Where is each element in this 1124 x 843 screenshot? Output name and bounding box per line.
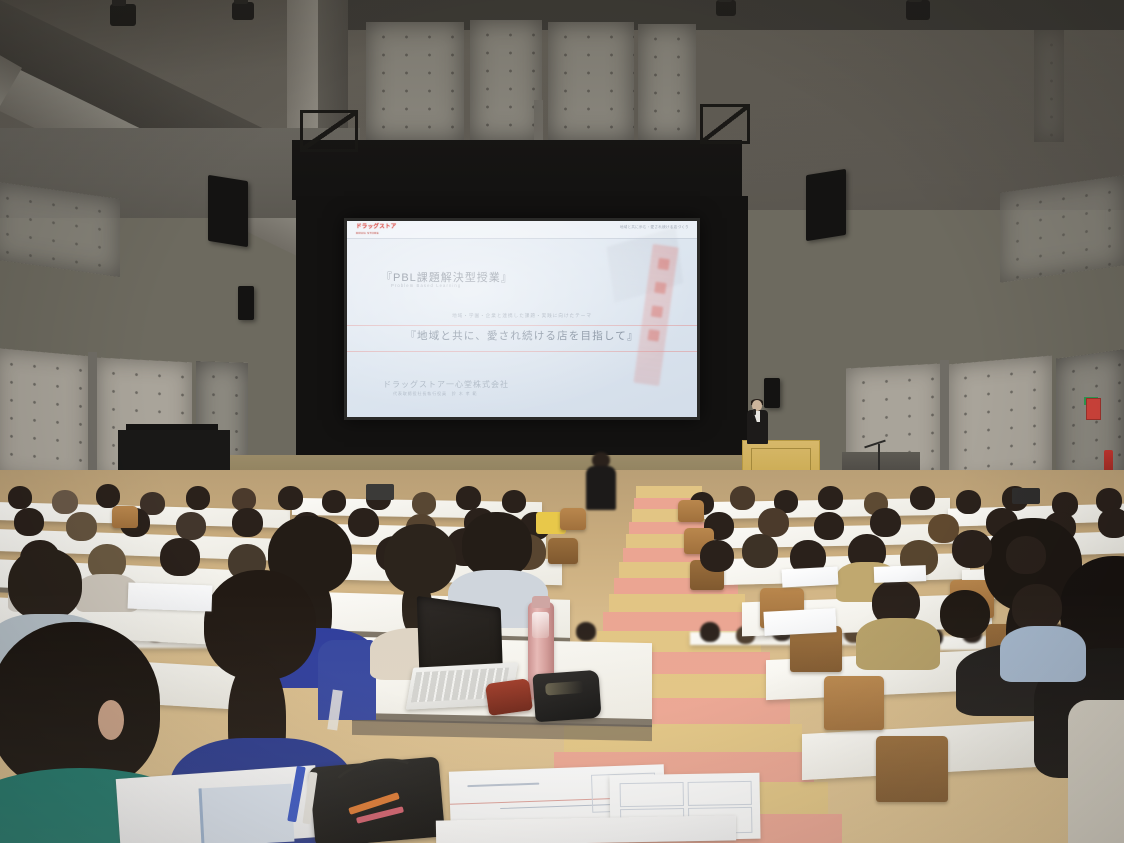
- stage-truss-bracket: [700, 104, 750, 144]
- audience-torso: [1000, 626, 1086, 682]
- speaker-icon: [238, 286, 254, 320]
- paper-sheet: [782, 567, 839, 588]
- pencil-case[interactable]: [532, 670, 601, 722]
- student-laptop-small: [1012, 488, 1040, 504]
- wall-seam-right: [940, 360, 949, 486]
- audience-head: [186, 486, 210, 510]
- acoustic-panel-right-b: [948, 355, 1052, 488]
- slide-divider-rule: [347, 351, 697, 352]
- wall-seam: [534, 100, 543, 144]
- audience-head: [870, 508, 901, 537]
- aisle-step: [603, 612, 753, 631]
- stage-spotlight-icon: [716, 0, 736, 16]
- audience-head: [52, 490, 78, 514]
- aisle-riser: [609, 594, 745, 612]
- audience-head: [1006, 536, 1046, 574]
- audience-head: [952, 530, 992, 568]
- audience-head: [700, 540, 734, 572]
- acoustic-panel-upper-left: [366, 22, 464, 140]
- audience-head: [742, 534, 778, 568]
- paper-sheet-bottom-right: [436, 815, 736, 843]
- audience-torso: [856, 618, 940, 670]
- microphone-icon: [753, 409, 756, 415]
- audience-head: [96, 484, 120, 508]
- audience-head: [14, 508, 44, 536]
- audience-head: [758, 508, 789, 537]
- stage-truss-bracket: [300, 110, 358, 152]
- chair: [560, 508, 586, 530]
- acoustic-panel-upper-mid: [470, 20, 542, 140]
- slide-header-bar: [347, 221, 697, 239]
- audience-head: [956, 490, 981, 514]
- water-bottle-cap[interactable]: [532, 596, 550, 608]
- proscenium-header: [292, 140, 742, 200]
- standing-student: [584, 452, 618, 510]
- paper-sheet: [763, 608, 836, 636]
- emergency-light-icon: [1086, 398, 1101, 420]
- audience-head: [412, 492, 436, 515]
- paper-sheet: [128, 583, 213, 612]
- audience-head: [818, 486, 843, 510]
- audience-head: [910, 486, 935, 510]
- audience-head: [8, 486, 32, 509]
- audience-head: [502, 490, 526, 513]
- audience-head: [700, 622, 720, 642]
- slide-company-name: ドラッグストア一心堂株式会社: [383, 379, 509, 390]
- acoustic-panel-right-upper: [1000, 175, 1124, 282]
- audience-head: [322, 490, 346, 513]
- stage-spotlight-icon: [110, 4, 136, 26]
- audience-head: [814, 512, 844, 540]
- lecture-hall-photo: ドラッグストア DRUG STORE 地域と共に歩む・愛され続ける店づくり 『P…: [0, 0, 1124, 843]
- chair: [112, 506, 138, 528]
- chair: [876, 736, 948, 802]
- projected-slide: ドラッグストア DRUG STORE 地域と共に歩む・愛され続ける店づくり 『P…: [347, 221, 697, 417]
- slide-headline: 『地域と共に、愛され続ける店を目指して』: [347, 328, 697, 343]
- slide-header-note: 地域と共に歩む・愛され続ける店づくり: [620, 225, 689, 230]
- chair: [678, 500, 704, 522]
- red-glasses-case[interactable]: [485, 678, 533, 716]
- student-laptop-small: [366, 484, 394, 500]
- slide-company-logo: ドラッグストア DRUG STORE: [356, 224, 397, 236]
- paper-sheet: [874, 565, 927, 583]
- microphone-stand: [860, 438, 900, 472]
- acoustic-panel-upper-right: [638, 24, 696, 140]
- audience-head: [940, 590, 990, 638]
- stage-spotlight-icon: [232, 2, 254, 20]
- acoustic-panel-upper-far-right: [1034, 30, 1064, 142]
- slide-subtitle: 地域・学園・企業と連携した課題・実践に向けたテーマ: [347, 313, 697, 319]
- speaker-icon: [208, 175, 248, 247]
- audience-head: [176, 512, 206, 540]
- acoustic-panel-left-a: [0, 348, 90, 486]
- audience-head: [730, 486, 755, 510]
- speaker-icon: [806, 169, 846, 241]
- foreground-student-right-c: [1068, 700, 1124, 843]
- slide-title-english: Problem Based Learning: [391, 283, 461, 288]
- stage-spotlight-icon: [906, 0, 930, 20]
- audience-head: [66, 512, 97, 541]
- ear: [98, 700, 124, 740]
- audience-head: [278, 486, 303, 510]
- audience-head: [456, 486, 481, 510]
- slide-divider-rule: [347, 325, 697, 326]
- presenter: [746, 400, 768, 446]
- projection-screen: ドラッグストア DRUG STORE 地域と共に歩む・愛され続ける店づくり 『P…: [344, 218, 700, 420]
- chair: [548, 538, 578, 564]
- slide-presenter-name: 代表取締役社長執行役員 鈴 木 孝 範: [393, 391, 477, 397]
- notebook-blue: [199, 784, 295, 843]
- water-bottle-window: [532, 612, 549, 638]
- audience-head: [1012, 584, 1062, 632]
- chair: [824, 676, 884, 730]
- wall-seam-left: [88, 352, 97, 484]
- audience-head: [576, 622, 596, 641]
- acoustic-panel-upper-midright: [548, 22, 634, 140]
